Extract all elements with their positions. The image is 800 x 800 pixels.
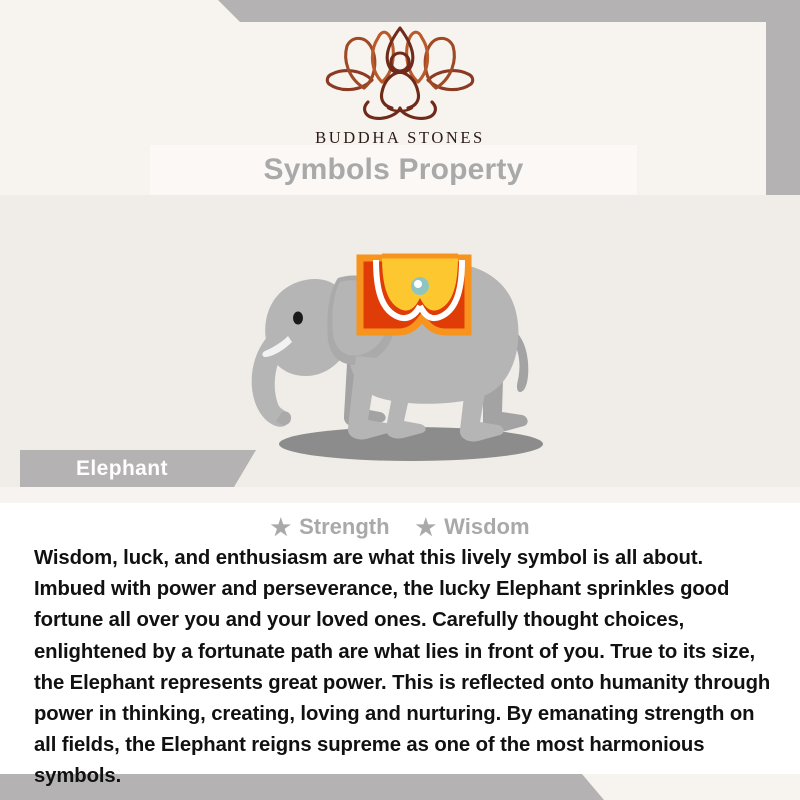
frame-top-bar	[0, 0, 800, 22]
trait-label-strength: Strength	[299, 514, 389, 540]
page-title: Symbols Property	[264, 153, 524, 187]
symbol-name-banner: Elephant	[20, 450, 256, 487]
elephant-eye	[293, 312, 303, 325]
walking-elephant-icon	[236, 216, 566, 478]
brand-logo: BUDDHA STONES	[0, 22, 800, 148]
symbol-description: Wisdom, luck, and enthusiasm are what th…	[34, 543, 776, 793]
trait-label-wisdom: Wisdom	[444, 514, 529, 540]
trait-strength: ★ Strength	[270, 514, 389, 540]
lotus-meditation-logo-icon	[310, 22, 490, 124]
symbol-property-card: BUDDHA STONES Symbols Property	[0, 0, 800, 800]
symbol-illustration	[236, 216, 566, 478]
star-icon: ★	[270, 516, 291, 539]
page-title-bar: Symbols Property	[150, 145, 637, 195]
traits-row: ★ Strength ★ Wisdom	[0, 514, 800, 540]
trait-wisdom: ★ Wisdom	[416, 514, 530, 540]
symbol-name: Elephant	[76, 457, 168, 481]
star-icon: ★	[416, 516, 437, 539]
divider-band	[0, 487, 800, 503]
